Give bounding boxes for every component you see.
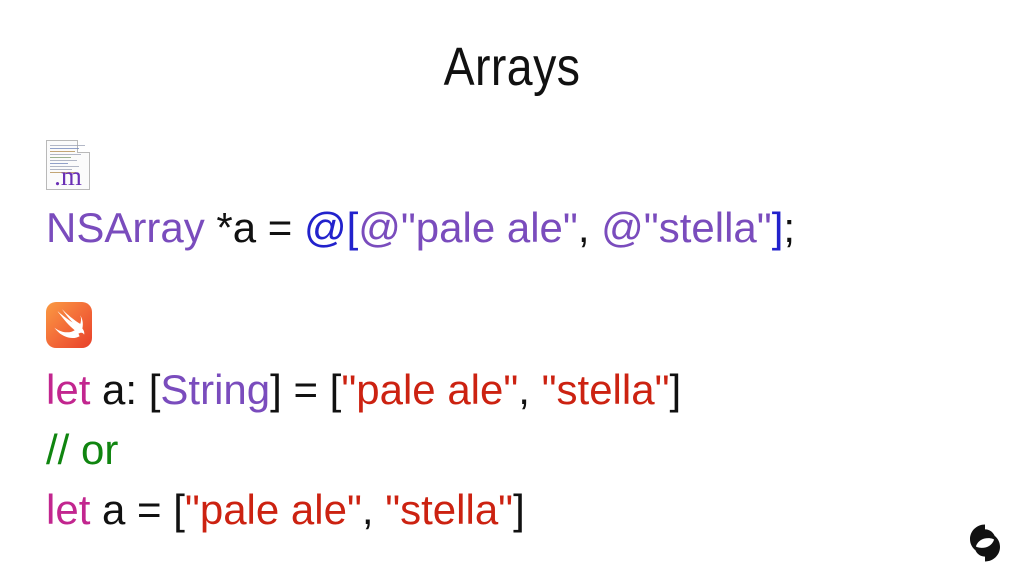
code-token-string: "stella" — [385, 486, 513, 533]
code-token-string: "pale ale" — [341, 366, 518, 413]
code-token-comment: // or — [46, 426, 118, 473]
code-token-plain: ; — [783, 204, 795, 251]
page-title: Arrays — [72, 38, 953, 96]
objc-code-block: .m NSArray *a = @[@"pale ale", @"stella"… — [46, 140, 795, 258]
code-token-type: String — [160, 366, 270, 413]
objective-c-file-icon: .m — [46, 140, 90, 190]
file-extension-label: .m — [47, 163, 89, 190]
code-line: // or — [46, 420, 681, 480]
code-token-plain: , — [362, 486, 385, 533]
code-token-plain: , — [518, 366, 541, 413]
code-token-string: "pale ale" — [185, 486, 362, 533]
code-line: let a = ["pale ale", "stella"] — [46, 480, 681, 540]
code-token-keyword: let — [46, 366, 90, 413]
code-token-at: ] — [772, 204, 784, 251]
code-token-plain: a: [ — [90, 366, 160, 413]
code-token-objcstr: @"pale ale" — [358, 204, 578, 251]
code-token-type: NSArray — [46, 204, 216, 251]
code-token-plain: , — [578, 204, 601, 251]
code-token-objcstr: @"stella" — [601, 204, 772, 251]
code-line: let a: [String] = ["pale ale", "stella"] — [46, 360, 681, 420]
code-line: NSArray *a = @[@"pale ale", @"stella"]; — [46, 198, 795, 258]
code-token-at: @[ — [304, 204, 358, 251]
code-token-keyword: let — [46, 486, 90, 533]
code-token-plain: ] — [513, 486, 525, 533]
code-token-string: "stella" — [542, 366, 670, 413]
code-token-plain: a = [ — [90, 486, 185, 533]
code-token-plain: *a = — [216, 204, 304, 251]
swift-code-block: let a: [String] = ["pale ale", "stella"]… — [46, 302, 681, 540]
s-spiral-logo — [964, 520, 1006, 566]
swift-logo-icon — [46, 302, 92, 348]
code-token-plain: ] — [670, 366, 682, 413]
slide-canvas: Arrays .m NSArray *a = @[@"pale ale", @"… — [0, 0, 1024, 576]
code-token-plain: ] = [ — [270, 366, 341, 413]
